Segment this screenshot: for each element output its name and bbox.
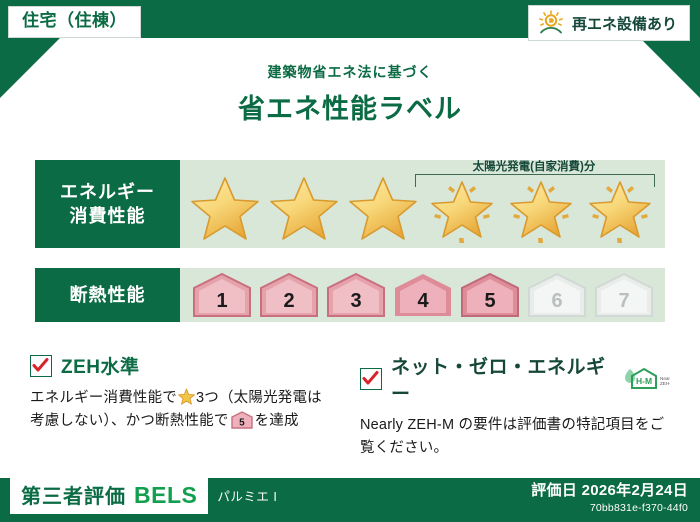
bels-chip: 第三者評価 BELS [10,476,208,514]
star-5-solar [502,170,580,244]
star-4-solar [423,170,501,244]
document-id: 70bb831e-f370-44f0 [531,502,688,514]
star-1 [186,170,264,244]
insulation-level-6-value: 6 [551,290,562,318]
zeh-title: ZEH水準 [61,352,140,379]
insulation-level-3: 3 [324,272,388,318]
insulation-level-4: 4 [391,272,455,318]
label-title-block: 建築物省エネ法に基づく 省エネ性能ラベル [0,62,700,126]
renewable-badge-label: 再エネ設備あり [572,13,677,34]
insulation-performance-row: 断熱性能 1 2 3 4 [35,268,665,322]
svg-text:5: 5 [239,418,245,429]
svg-text:ZEH-M: ZEH-M [660,381,670,386]
energy-performance-label: エネルギー 消費性能 [35,160,180,248]
property-name: パルミエ I [217,486,277,505]
insulation-label-text: 断熱性能 [70,283,146,307]
solar-sun-icon [537,10,565,36]
star-rating-group [186,170,659,244]
inline-house-badge-icon: 5 [231,411,253,429]
evaluation-date: 評価日 2026年2月24日 [531,479,688,500]
netzero-heading: ネット・ゼロ・エネルギー H-M Nearly ZEH-M [360,352,670,406]
insulation-level-5: 5 [458,272,522,318]
insulation-level-7-value: 7 [618,290,629,318]
zeh-standard-block: ZEH水準 エネルギー消費性能で3つ（太陽光発電は考慮しない）、かつ断熱性能で5… [30,352,330,434]
evaluation-date-block: 評価日 2026年2月24日 70bb831e-f370-44f0 [531,479,688,514]
zeh-desc-part2: 3つ（太陽光発電 [196,390,307,406]
title-subtitle: 建築物省エネ法に基づく [0,62,700,82]
energy-label-line1: エネルギー [60,180,155,204]
energy-label-root: 住宅（住棟） 再エネ設備あり 建築物省エネ法に基づく [0,0,700,522]
renewable-equipment-badge: 再エネ設備あり [528,5,690,41]
zeh-desc-part1: エネルギー消費性能で [30,390,177,406]
zeh-desc-part4: を達成 [255,413,299,429]
energy-performance-row: エネルギー 消費性能 [35,160,665,248]
insulation-level-2-value: 2 [283,290,294,318]
zeh-heading: ZEH水準 [30,352,330,379]
zeh-description: エネルギー消費性能で3つ（太陽光発電は考慮しない）、かつ断熱性能で5を達成 [30,387,330,434]
zeh-checkbox-checked-icon [30,355,52,377]
insulation-level-7: 7 [592,272,656,318]
title-main: 省エネ性能ラベル [0,87,700,126]
netzero-description: Nearly ZEH-M の要件は評価書の特記項目をご覧ください。 [360,414,670,461]
insulation-level-5-value: 5 [484,290,495,318]
netzero-title: ネット・ゼロ・エネルギー [391,352,609,406]
insulation-rating-body: 1 2 3 4 5 [180,268,665,322]
nearly-zeh-m-house-icon: H-M Nearly ZEH-M [622,366,670,392]
third-party-eval-label: 第三者評価 [21,480,126,509]
insulation-level-4-value: 4 [417,290,428,318]
star-6-solar [581,170,659,244]
energy-rating-body: 太陽光発電(自家消費)分 [180,160,665,248]
housing-type-tag: 住宅（住棟） [8,6,141,38]
insulation-level-2: 2 [257,272,321,318]
bels-logo-text: BELS [134,482,197,509]
insulation-level-1-value: 1 [216,290,227,318]
star-2 [265,170,343,244]
insulation-level-3-value: 3 [350,290,361,318]
energy-label-line2: 消費性能 [70,204,146,228]
insulation-performance-label: 断熱性能 [35,268,180,322]
net-zero-energy-block: ネット・ゼロ・エネルギー H-M Nearly ZEH-M Nearly ZEH… [360,352,670,461]
bels-footer: 第三者評価 BELS パルミエ I [10,476,277,514]
insulation-level-6: 6 [525,272,589,318]
insulation-level-group: 1 2 3 4 5 [190,272,656,318]
housing-type-label: 住宅（住棟） [22,11,127,30]
insulation-level-1: 1 [190,272,254,318]
netzero-checkbox-checked-icon [360,368,382,390]
star-3 [344,170,422,244]
svg-text:H-M: H-M [636,376,652,386]
inline-star-icon [178,388,195,405]
